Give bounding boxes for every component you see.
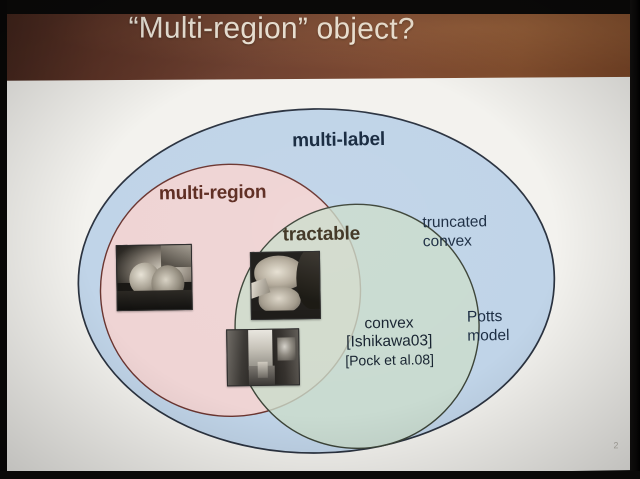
annotation-potts-model: Potts model xyxy=(467,308,510,346)
screen-bezel-right xyxy=(630,0,640,479)
venn-label-tractable: tractable xyxy=(282,223,360,246)
page-number: 2 xyxy=(613,440,619,450)
annotation-truncated-convex-line1: truncated xyxy=(422,213,487,233)
citation-pock: [Pock et al.08] xyxy=(329,350,449,368)
street-alley-thumbnail xyxy=(226,328,300,386)
annotation-convex-citations: convex [Ishikawa03] [Pock et al.08] xyxy=(329,314,450,369)
slide-surface: “Multi-region” object? multi-label multi… xyxy=(0,0,640,479)
annotation-convex-label: convex xyxy=(329,314,449,334)
annotation-potts-model-line1: Potts xyxy=(467,308,510,328)
screen-bezel-bottom xyxy=(0,471,640,479)
annotation-truncated-convex-line2: convex xyxy=(423,232,488,252)
annotation-truncated-convex: truncated convex xyxy=(422,213,487,252)
annotation-potts-model-line2: model xyxy=(467,327,510,347)
mri-knee-thumbnail xyxy=(250,251,321,320)
citation-ishikawa: [Ishikawa03] xyxy=(329,332,449,352)
projected-slide-photo: “Multi-region” object? multi-label multi… xyxy=(0,0,640,479)
mri-cardiac-thumbnail xyxy=(116,244,193,311)
venn-diagram: multi-label multi-region tractable trunc… xyxy=(0,0,640,479)
venn-label-multi-region: multi-region xyxy=(159,182,267,206)
screen-bezel-left xyxy=(0,0,7,479)
screen-bezel-top xyxy=(0,0,640,14)
venn-label-multi-label: multi-label xyxy=(292,129,385,152)
